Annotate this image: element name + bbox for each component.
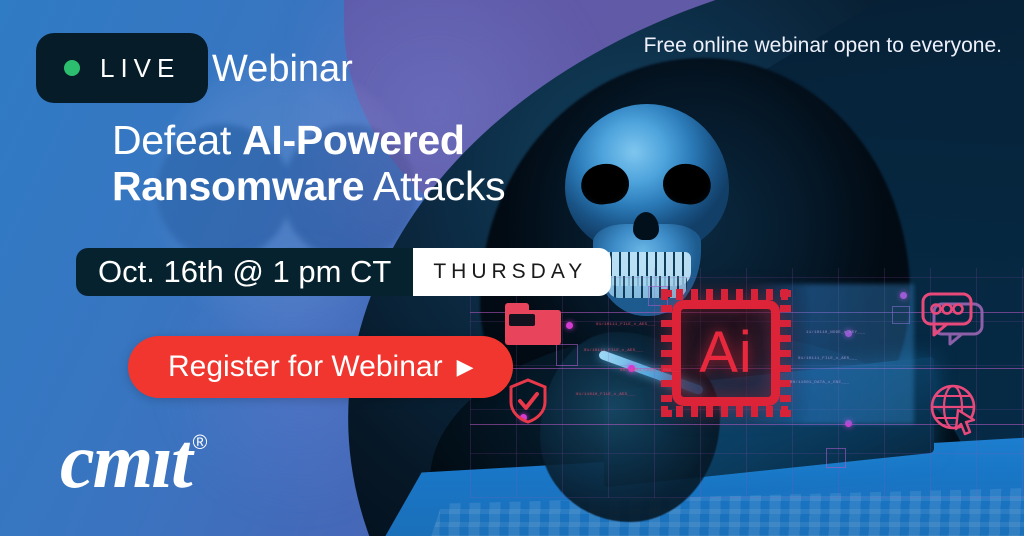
page-title: Defeat AI-Powered Ransomware Attacks [112, 118, 505, 210]
headline-line-1: Defeat AI-Powered [112, 118, 505, 164]
webinar-promo-banner: Ai 01/10111_FILE_x_AES___ 01/10111_FILE_… [0, 0, 1024, 536]
headline-line-2: Ransomware Attacks [112, 164, 505, 210]
register-button-label: Register for Webinar [168, 350, 443, 384]
arrow-right-icon: ▶ [457, 356, 474, 378]
headline-plain-2: Attacks [364, 163, 505, 209]
cmit-wordmark: cmıt [60, 424, 191, 498]
headline-plain-1: Defeat [112, 117, 242, 163]
weekday-badge: THURSDAY [413, 248, 611, 296]
register-button[interactable]: Register for Webinar ▶ [128, 336, 513, 398]
headline-bold-2: Ransomware [112, 163, 364, 209]
live-status-dot [64, 60, 80, 76]
datetime-label: Oct. 16th @ 1 pm CT [76, 248, 413, 296]
tagline-text: Free online webinar open to everyone. [644, 34, 1002, 58]
live-badge: LIVE [36, 33, 208, 103]
cmit-logo[interactable]: cmıt ® [60, 424, 207, 498]
registered-trademark-icon: ® [193, 432, 208, 455]
content-layer: LIVE Webinar Free online webinar open to… [0, 0, 1024, 536]
webinar-type-label: Webinar [212, 48, 353, 91]
live-label: LIVE [100, 53, 180, 84]
headline-bold-1: AI-Powered [242, 117, 465, 163]
schedule-bar: Oct. 16th @ 1 pm CT THURSDAY [76, 248, 611, 296]
